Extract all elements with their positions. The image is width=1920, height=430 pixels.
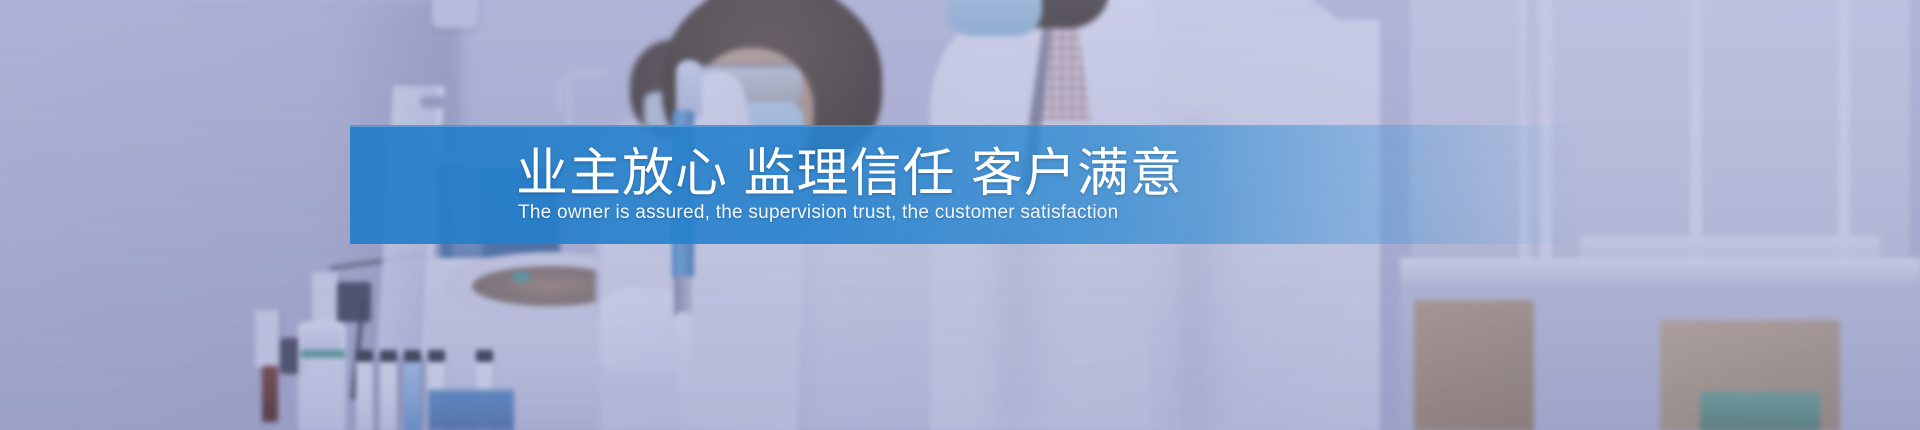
banner-subline: The owner is assured, the supervision tr… — [518, 202, 1118, 224]
hero-banner: 业主放心 监理信任 客户满意 The owner is assured, the… — [0, 0, 1920, 430]
banner-headline: 业主放心 监理信任 客户满意 — [516, 147, 1183, 202]
headline-band-top-highlight — [350, 125, 1580, 127]
